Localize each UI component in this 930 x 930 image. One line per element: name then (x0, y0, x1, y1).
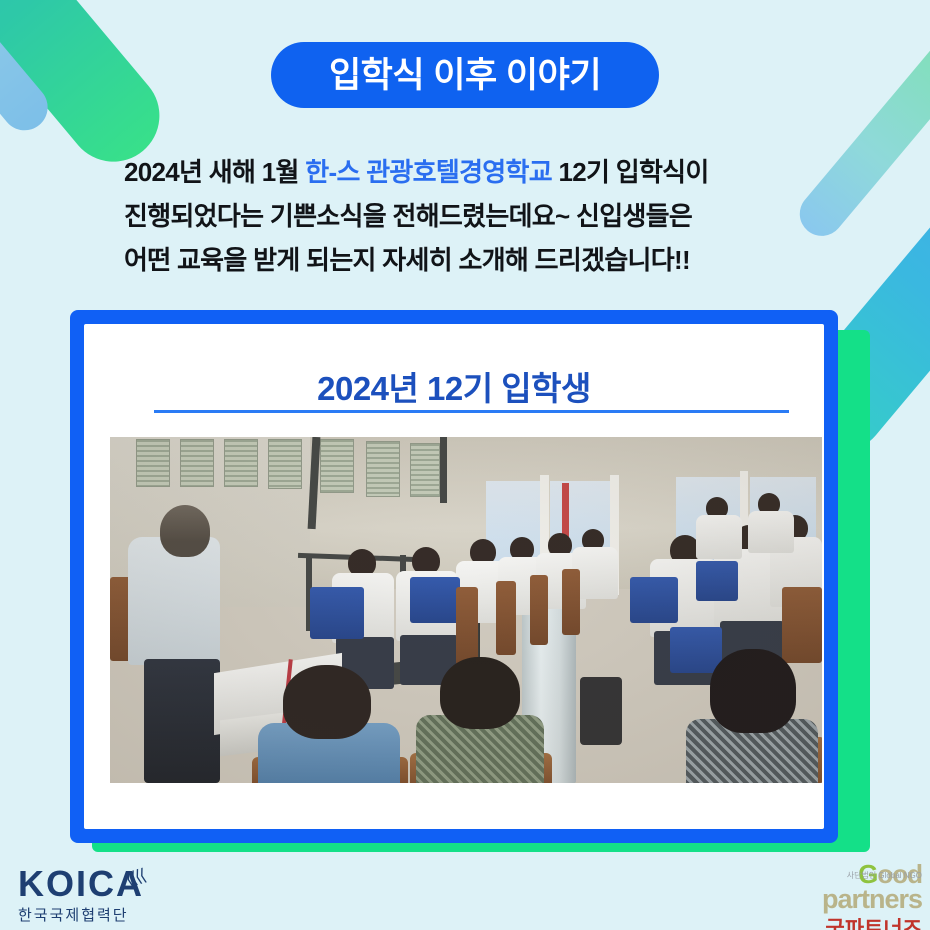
photo-equipment-case (580, 677, 622, 745)
photo-card-inner: 2024년 12기 입학생 (84, 324, 824, 829)
header-badge: 입학식 이후 이야기 (271, 42, 659, 108)
lead-line-1-before: 2024년 새해 1월 (124, 157, 305, 187)
photo-speaker-head (160, 505, 210, 557)
lead-line-2: 진행되었다는 기쁜소식을 전해드렸는데요~ 신입생들은 (124, 194, 824, 238)
classroom-photo (110, 437, 822, 783)
photo-wood-chair (562, 569, 580, 635)
good-partners-logo: Good사단법인 Global NGO partners 굿파트너즈 (786, 862, 922, 930)
poster-root: 입학식 이후 이야기 2024년 새해 1월 한-스 관광호텔경영학교 12기 … (0, 0, 930, 930)
card-title: 2024년 12기 입학생 (84, 362, 824, 410)
card-title-divider (154, 410, 789, 413)
photo-wood-chair (496, 581, 516, 655)
photo-louver-window (136, 439, 170, 487)
koica-logo: KOICA ⟨⟨⟨⟨ 한국국제협력단 (18, 866, 144, 925)
photo-louver-window (410, 443, 440, 497)
photo-wood-chair (530, 575, 548, 645)
photo-student-shirt (748, 511, 794, 553)
photo-foreground-person-head (440, 657, 520, 729)
good-partners-tagline: 사단법인 Global NGO (847, 864, 922, 888)
photo-speaker-body (128, 537, 220, 665)
good-partners-line-1: Good사단법인 Global NGO (786, 862, 922, 886)
photo-card: 2024년 12기 입학생 (70, 310, 838, 843)
good-partners-line-2: partners (786, 886, 922, 912)
photo-student-shirt (696, 515, 742, 559)
lead-line-1-after: 12기 입학식이 (552, 157, 709, 187)
photo-speaker-legs (144, 659, 220, 783)
photo-louver-window (268, 439, 302, 489)
photo-blue-chair (670, 627, 722, 673)
photo-blue-chair (696, 561, 738, 601)
photo-blue-chair (630, 577, 678, 623)
photo-foreground-person-head (283, 665, 371, 739)
photo-louver-window (180, 439, 214, 487)
lead-line-1-highlight: 한-스 관광호텔경영학교 (305, 157, 552, 187)
lead-paragraph: 2024년 새해 1월 한-스 관광호텔경영학교 12기 입학식이 진행되었다는… (124, 150, 824, 282)
photo-wood-chair (782, 587, 822, 663)
photo-foreground-person-head (710, 649, 796, 733)
photo-ceiling-beam (440, 437, 447, 503)
lead-line-1: 2024년 새해 1월 한-스 관광호텔경영학교 12기 입학식이 (124, 150, 824, 194)
photo-louver-window (366, 441, 400, 497)
header-badge-label: 입학식 이후 이야기 (329, 58, 601, 93)
good-partners-korean: 굿파트너즈 (786, 913, 922, 930)
photo-wood-chair (456, 587, 478, 665)
koica-subtitle: 한국국제협력단 (18, 904, 144, 925)
photo-blue-chair (310, 587, 364, 639)
photo-louver-window (320, 439, 354, 493)
photo-louver-window (224, 439, 258, 487)
photo-blue-chair (410, 577, 460, 623)
lead-line-3: 어떤 교육을 받게 되는지 자세히 소개해 드리겠습니다!! (124, 238, 824, 282)
